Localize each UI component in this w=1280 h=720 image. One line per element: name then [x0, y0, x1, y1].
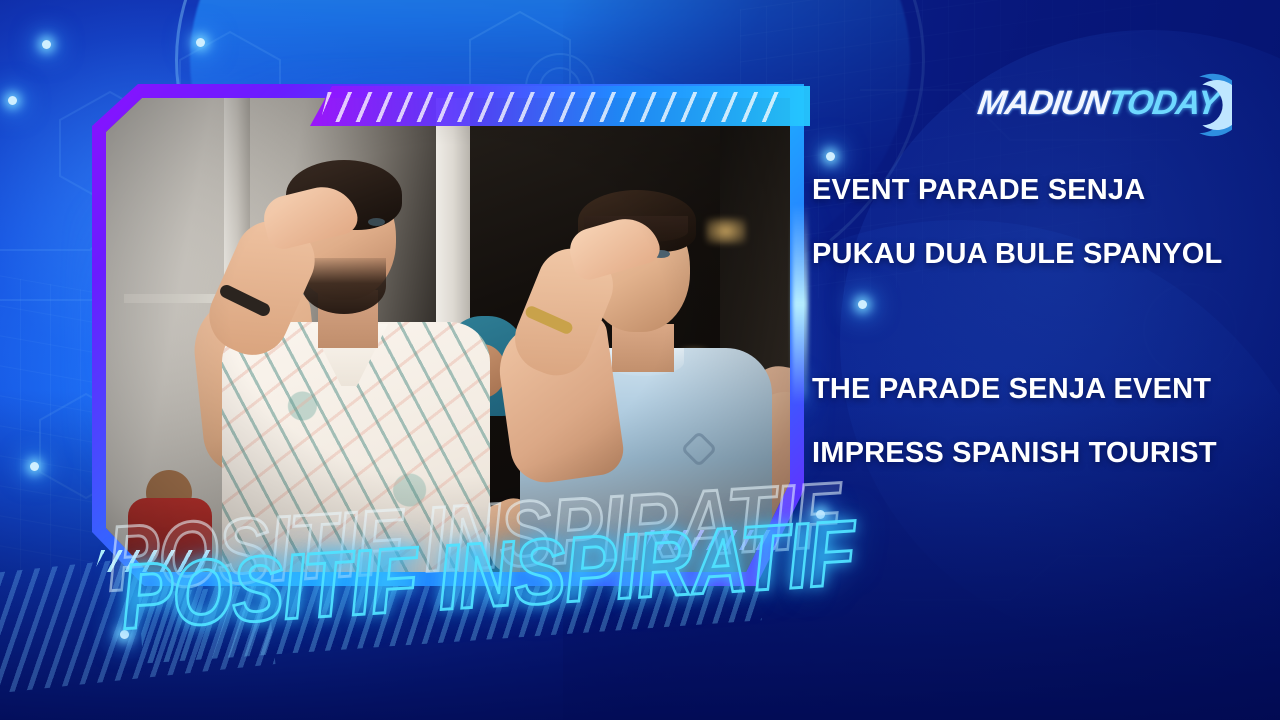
headline-id-line-1: EVENT PARADE SENJA: [812, 176, 1274, 206]
glow-spark: [42, 40, 51, 49]
logo-text-madiun: MADIUN: [975, 84, 1110, 122]
glow-spark: [120, 630, 129, 639]
frame-edge-sheen: [792, 204, 808, 404]
glow-spark: [8, 96, 17, 105]
photo-container: [106, 98, 790, 572]
photo-frame: [92, 84, 804, 586]
frame-tick-marks-bottom-left: [95, 550, 221, 572]
broadcast-thumbnail: POSITIF INSPIRATIF POSITIF INSPIRATIF MA…: [0, 0, 1280, 720]
glow-spark: [30, 462, 39, 471]
headline-en-line-2: IMPRESS SPANISH TOURIST: [812, 439, 1274, 469]
glow-spark: [826, 152, 835, 161]
channel-logo[interactable]: MADIUNTODAY: [978, 62, 1228, 148]
headline-block: EVENT PARADE SENJA PUKAU DUA BULE SPANYO…: [812, 176, 1274, 468]
frame-tick-marks-bottom-right: [645, 530, 781, 550]
headline-id-line-2: PUKAU DUA BULE SPANYOL: [812, 240, 1274, 270]
glow-spark: [196, 38, 205, 47]
crescent-swoosh-icon: [1154, 66, 1232, 144]
headline-spacer: [812, 303, 1274, 375]
frame-tick-marks-top: [320, 92, 787, 122]
headline-en-line-1: THE PARADE SENJA EVENT: [812, 375, 1274, 405]
news-photo: [106, 98, 790, 572]
photo-vignette: [106, 98, 790, 572]
